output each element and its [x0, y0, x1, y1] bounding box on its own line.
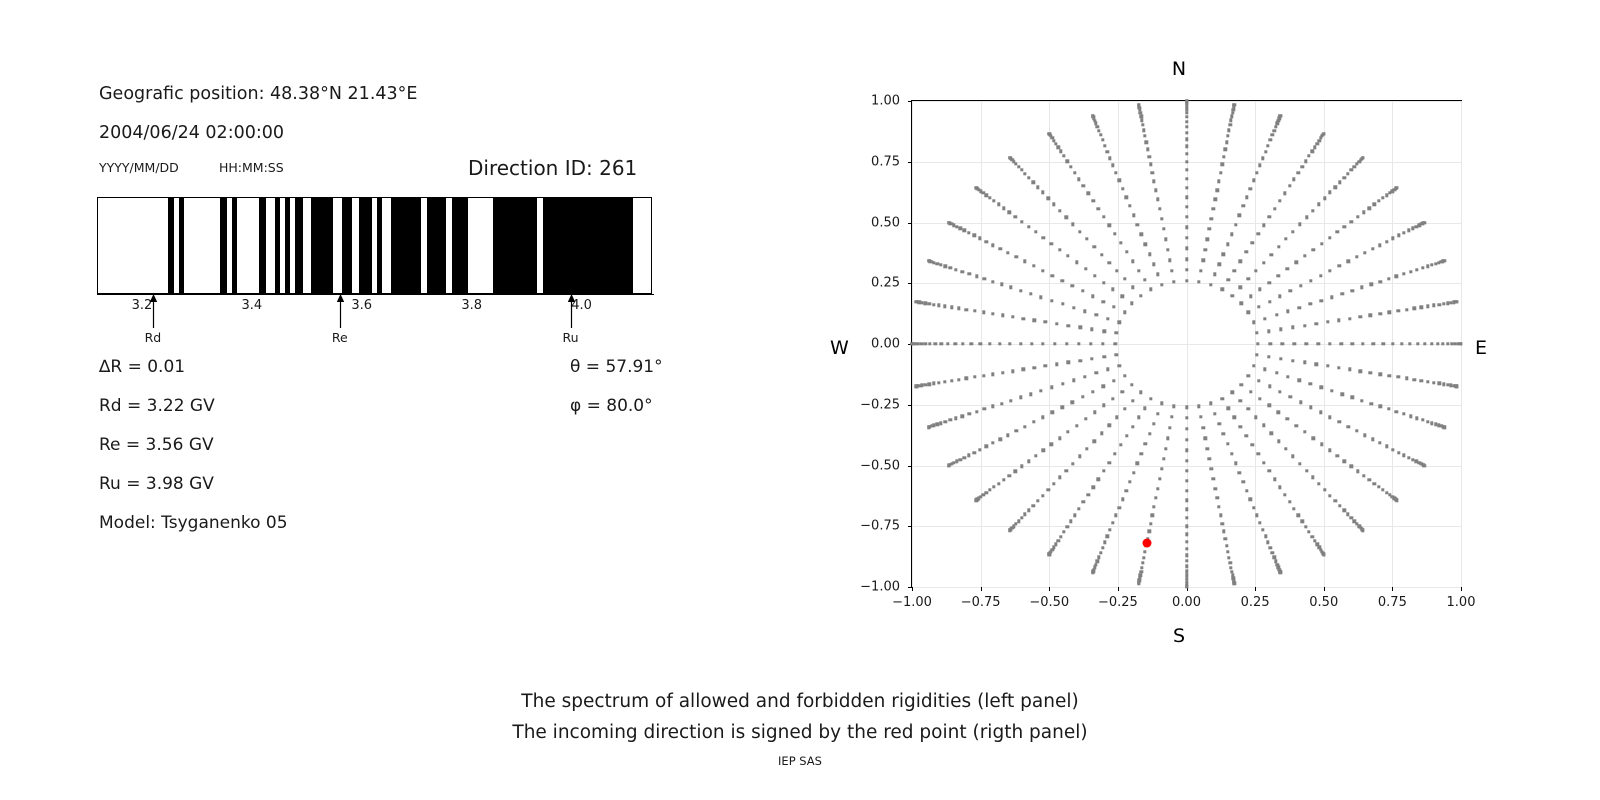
direction-dot	[1227, 129, 1230, 132]
direction-dot	[1148, 432, 1151, 435]
direction-dot	[1249, 295, 1252, 298]
y-axis-tick-label: 0.50	[871, 215, 900, 230]
direction-dot	[967, 453, 970, 456]
direction-dot	[1036, 499, 1039, 502]
direction-dot	[1142, 556, 1145, 559]
y-axis-tick	[908, 587, 912, 588]
direction-dot	[1201, 426, 1204, 429]
direction-dot	[1069, 165, 1072, 168]
direction-dot	[991, 312, 994, 315]
direction-dot	[1185, 569, 1188, 572]
direction-dot	[1001, 314, 1004, 317]
direction-dot	[1220, 288, 1223, 291]
direction-dot	[1032, 420, 1035, 423]
direction-dot	[1328, 342, 1331, 345]
direction-dot	[1185, 107, 1188, 110]
direction-dot	[1160, 467, 1163, 470]
direction-dot	[1108, 528, 1111, 531]
direction-dot	[982, 374, 985, 377]
direction-dot	[1232, 103, 1235, 106]
direction-dot	[970, 342, 973, 345]
direction-dot	[1356, 215, 1359, 218]
direction-dot	[1348, 368, 1351, 371]
direction-dot	[1402, 231, 1405, 234]
direction-dot	[1298, 462, 1301, 465]
direction-dot	[1378, 312, 1381, 315]
direction-dot	[1292, 507, 1295, 510]
direction-dot	[1156, 273, 1159, 276]
direction-dot	[1220, 397, 1223, 400]
direction-dot	[1241, 480, 1244, 483]
direction-dot	[1239, 399, 1242, 402]
direction-dot	[1238, 471, 1241, 474]
direction-dot	[1279, 357, 1282, 360]
direction-dot	[1185, 479, 1188, 482]
direction-dot	[1112, 305, 1115, 308]
direction-dot	[991, 373, 994, 376]
direction-dot	[1140, 233, 1143, 236]
direction-dot	[1185, 459, 1188, 462]
direction-dot	[1395, 275, 1398, 278]
direction-dot	[1295, 424, 1298, 427]
direction-dot	[1071, 462, 1074, 465]
direction-dot	[1304, 525, 1307, 528]
direction-dot	[967, 412, 970, 415]
direction-dot	[1062, 154, 1065, 157]
direction-dot	[927, 425, 930, 428]
x-axis-tick-label: −0.25	[1098, 595, 1138, 610]
direction-dot	[1218, 422, 1221, 425]
direction-dot	[1385, 240, 1388, 243]
direction-dot	[1071, 223, 1074, 226]
direction-dot	[991, 441, 994, 444]
direction-dot	[1238, 214, 1241, 217]
direction-dot	[1111, 397, 1114, 400]
direction-dot	[1297, 514, 1300, 517]
direction-dot	[1090, 328, 1093, 331]
direction-dot	[1446, 342, 1449, 345]
direction-dot	[1305, 342, 1308, 345]
direction-dot	[1373, 203, 1376, 206]
x-axis-tick-label: 0.25	[1241, 595, 1270, 610]
direction-dot	[1103, 541, 1106, 544]
direction-dot	[1266, 144, 1269, 147]
direction-dot	[967, 231, 970, 234]
direction-dot	[1009, 399, 1012, 402]
direction-dot	[1234, 462, 1237, 465]
direction-dot	[983, 407, 986, 410]
direction-dot	[975, 275, 978, 278]
direction-dot	[1397, 309, 1400, 312]
direction-dot	[1219, 171, 1222, 174]
direction-dot	[1029, 292, 1032, 295]
direction-dot	[1362, 211, 1365, 214]
y-axis-tick-label: −0.75	[860, 519, 900, 534]
direction-dot	[934, 342, 937, 345]
direction-dot	[1426, 305, 1429, 308]
direction-dot	[1341, 392, 1344, 395]
direction-dot	[1229, 119, 1232, 122]
direction-dot	[1014, 429, 1017, 432]
direction-dot	[1102, 469, 1105, 472]
direction-dot	[1078, 359, 1081, 362]
direction-dot	[1086, 493, 1089, 496]
direction-dot	[1218, 263, 1221, 266]
x-axis-tick	[912, 587, 913, 591]
direction-dot	[1114, 171, 1117, 174]
direction-dot	[1215, 188, 1218, 191]
direction-dot	[1225, 544, 1228, 547]
direction-dot	[1185, 145, 1188, 148]
direction-dot	[1108, 261, 1111, 264]
direction-map-panel: N S W E −1.00−0.75−0.50−0.250.000.250.50…	[830, 40, 1530, 660]
direction-dot	[1006, 434, 1009, 437]
direction-dot	[1130, 302, 1133, 305]
direction-dot	[1081, 395, 1084, 398]
direction-dot	[1154, 188, 1157, 191]
direction-dot	[1269, 138, 1272, 141]
direction-dot	[957, 307, 960, 310]
direction-dot	[1388, 311, 1391, 314]
direction-dot	[1231, 294, 1234, 297]
direction-dot	[1226, 550, 1229, 553]
forbidden-band	[452, 198, 468, 293]
direction-dot	[1083, 310, 1086, 313]
direction-dot	[1320, 242, 1323, 245]
direction-dot	[1277, 245, 1280, 248]
x-axis-tick	[1461, 587, 1462, 591]
direction-dot	[1402, 412, 1405, 415]
direction-dot	[1245, 250, 1248, 253]
gridline-horizontal	[912, 283, 1461, 284]
direction-dot	[1185, 177, 1188, 180]
direction-dot	[1162, 227, 1165, 230]
forbidden-band	[220, 198, 227, 293]
direction-dot	[1361, 342, 1364, 345]
direction-dot	[1185, 499, 1188, 502]
direction-dot	[1413, 378, 1416, 381]
direction-dot	[1160, 402, 1163, 405]
direction-dot	[1224, 148, 1227, 151]
direction-dot	[1283, 493, 1286, 496]
direction-dot	[1317, 482, 1320, 485]
direction-dot	[937, 381, 940, 384]
direction-dot	[1036, 185, 1039, 188]
direction-dot	[1328, 416, 1331, 419]
direction-dot	[1230, 114, 1233, 117]
direction-dot	[1147, 155, 1150, 158]
direction-dot	[1093, 411, 1096, 414]
direction-dot	[944, 420, 947, 423]
direction-dot	[1258, 521, 1261, 524]
direction-dot	[1256, 342, 1259, 345]
direction-dot	[914, 384, 917, 387]
direction-dot	[939, 421, 942, 424]
incoming-direction-point[interactable]	[1142, 539, 1151, 548]
direction-dot	[1140, 452, 1143, 455]
direction-dot	[1262, 224, 1265, 227]
rigidity-marker-label: Re	[332, 330, 348, 345]
spectrum-tick-label: 3.4	[242, 298, 263, 313]
direction-dot	[1443, 425, 1446, 428]
direction-dot	[1245, 196, 1248, 199]
direction-dot	[1278, 390, 1281, 393]
direction-dot	[1258, 288, 1261, 291]
direction-dot	[1102, 329, 1105, 332]
direction-dot	[947, 464, 950, 467]
direction-dot	[1185, 247, 1188, 250]
direction-dot	[1214, 487, 1217, 490]
direction-dot	[1042, 236, 1045, 239]
direction-dot	[1130, 383, 1133, 386]
direction-dot	[1303, 324, 1306, 327]
direction-dot	[1047, 488, 1050, 491]
direction-dot	[1048, 553, 1051, 556]
direction-dot	[1185, 115, 1188, 118]
direction-dot	[1310, 150, 1313, 153]
direction-dot	[1362, 474, 1365, 477]
direction-dot	[1415, 417, 1418, 420]
direction-dot	[1014, 215, 1017, 218]
direction-dot	[1315, 322, 1318, 325]
direction-dot	[1310, 535, 1313, 538]
direction-dot	[1407, 456, 1410, 459]
x-axis-tick-label: 0.00	[1172, 595, 1201, 610]
direction-dot	[1185, 553, 1188, 556]
direction-dot	[1228, 123, 1231, 126]
rigidity-spectrum-panel: Geografic position: 48.38°N 21.43°E 2004…	[0, 0, 760, 660]
direction-dot	[1333, 185, 1336, 188]
direction-dot	[1359, 369, 1362, 372]
direction-dot	[1270, 253, 1273, 256]
direction-dot	[1078, 455, 1081, 458]
direction-dot	[1227, 556, 1230, 559]
direction-dot	[1407, 229, 1410, 232]
direction-dot	[1268, 300, 1271, 303]
direction-dot	[1300, 165, 1303, 168]
direction-dot	[1278, 199, 1281, 202]
direction-dot	[1162, 457, 1165, 460]
forbidden-band	[295, 198, 303, 293]
direction-dot	[1360, 399, 1363, 402]
direction-dot	[1397, 451, 1400, 454]
direction-dot	[1338, 504, 1341, 507]
direction-dot	[1330, 295, 1333, 298]
direction-dot	[1107, 224, 1110, 227]
direction-dot	[975, 186, 978, 189]
direction-dot	[1144, 442, 1147, 445]
direction-dot	[1121, 187, 1124, 190]
direction-dot	[1041, 191, 1044, 194]
y-axis-tick-label: 1.00	[871, 94, 900, 109]
direction-dot	[1185, 215, 1188, 218]
direction-dot	[1293, 342, 1296, 345]
direction-dot	[973, 309, 976, 312]
caption-block: The spectrum of allowed and forbidden ri…	[0, 686, 1600, 748]
direction-dot	[1137, 103, 1140, 106]
direction-dot	[1249, 498, 1252, 501]
direction-dot	[954, 342, 957, 345]
direction-dot	[1041, 494, 1044, 497]
direction-dot	[1430, 342, 1433, 345]
up-arrow-icon	[566, 294, 577, 328]
datetime-label: 2004/06/24 02:00:00	[99, 123, 284, 143]
direction-dot	[1252, 506, 1255, 509]
direction-dot	[1151, 171, 1154, 174]
direction-dot	[1402, 453, 1405, 456]
direction-dot	[1071, 401, 1074, 404]
direction-dot	[1423, 221, 1426, 224]
direction-dot	[1136, 462, 1139, 465]
direction-dot	[1095, 313, 1098, 316]
direction-dot	[1008, 342, 1011, 345]
direction-dot	[1233, 269, 1236, 272]
x-axis-tick-label: −0.75	[961, 595, 1001, 610]
direction-dot	[1275, 313, 1278, 316]
direction-dot	[1081, 289, 1084, 292]
direction-dot	[1262, 261, 1265, 264]
direction-dot	[1009, 286, 1012, 289]
direction-dot	[1213, 273, 1216, 276]
direction-dot	[978, 448, 981, 451]
direction-dot	[1305, 216, 1308, 219]
direction-dot	[1185, 279, 1188, 282]
direction-dot	[1215, 496, 1218, 499]
direction-dot	[1014, 469, 1017, 472]
direction-dot	[1443, 259, 1446, 262]
forbidden-band	[285, 198, 290, 293]
direction-dot	[1455, 300, 1458, 303]
direction-dot	[1426, 380, 1429, 383]
direction-dot	[1346, 172, 1349, 175]
direction-dot	[1170, 415, 1173, 418]
direction-dot	[1143, 406, 1146, 409]
direction-dot	[1168, 426, 1171, 429]
direction-dot	[979, 342, 982, 345]
direction-dot	[1065, 342, 1068, 345]
direction-dot	[1059, 535, 1062, 538]
direction-dot	[1091, 114, 1094, 117]
direction-dot	[1277, 411, 1280, 414]
direction-dot	[1143, 278, 1146, 281]
direction-dot	[1426, 420, 1429, 423]
direction-dot	[1111, 521, 1114, 524]
direction-dot	[1002, 207, 1005, 210]
direction-dot	[1102, 404, 1105, 407]
direction-dot	[1019, 289, 1022, 292]
direction-dot	[1208, 227, 1211, 230]
direction-dot	[1303, 361, 1306, 364]
footer-credit: IEP SAS	[0, 754, 1600, 768]
rigidity-marker-label: Ru	[563, 330, 579, 345]
direction-dot	[1172, 280, 1175, 283]
direction-dot	[1268, 385, 1271, 388]
direction-dot	[1185, 533, 1188, 536]
direction-dot	[992, 199, 995, 202]
direction-dot	[1023, 172, 1026, 175]
direction-dot	[1246, 277, 1249, 280]
direction-dot	[1152, 422, 1155, 425]
direction-dot	[1305, 469, 1308, 472]
direction-dot	[1118, 321, 1121, 324]
direction-dot	[1251, 241, 1254, 244]
direction-dot	[1279, 328, 1282, 331]
direction-dot	[1054, 142, 1057, 145]
direction-dot	[1185, 525, 1188, 528]
direction-dot	[950, 306, 953, 309]
direction-dot	[1069, 520, 1072, 523]
direction-dot	[1102, 281, 1105, 284]
direction-dot	[1121, 390, 1124, 393]
direction-dot	[1278, 295, 1281, 298]
direction-dot	[1256, 232, 1259, 235]
direction-dot	[1421, 418, 1424, 421]
direction-dot	[1247, 374, 1250, 377]
direction-dot	[1115, 269, 1118, 272]
direction-dot	[923, 342, 926, 345]
direction-dot	[1261, 156, 1264, 159]
direction-dot	[1051, 411, 1054, 414]
direction-dot	[1185, 196, 1188, 199]
direction-dot	[1034, 454, 1037, 457]
y-axis-tick	[908, 526, 912, 527]
direction-dot	[1020, 168, 1023, 171]
direction-dot	[1337, 366, 1340, 369]
direction-dot	[1149, 288, 1152, 291]
direction-dot	[975, 410, 978, 413]
direction-dot	[1084, 267, 1087, 270]
direction-dot	[1056, 146, 1059, 149]
caption-line-1: The spectrum of allowed and forbidden ri…	[0, 686, 1600, 717]
direction-dot	[1086, 192, 1089, 195]
direction-dot	[1041, 342, 1044, 345]
direction-dot	[1254, 269, 1257, 272]
direction-dot	[1420, 379, 1423, 382]
direction-dot	[1348, 317, 1351, 320]
direction-dot	[927, 259, 930, 262]
direction-dot	[1111, 288, 1114, 291]
direction-dot	[943, 305, 946, 308]
direction-dot	[1277, 274, 1280, 277]
direction-dot	[1378, 405, 1381, 408]
direction-dot	[1387, 407, 1390, 410]
direction-dot	[1328, 191, 1331, 194]
direction-dot	[1073, 171, 1076, 174]
direction-dot	[1303, 254, 1306, 257]
direction-dot	[1219, 514, 1222, 517]
direction-id-label: Direction ID: 261	[468, 156, 637, 180]
direction-dot	[1047, 196, 1050, 199]
direction-dot	[1252, 321, 1255, 324]
direction-dot	[1289, 289, 1292, 292]
direction-dot	[1315, 142, 1318, 145]
direction-dot	[1292, 177, 1295, 180]
direction-dot	[1118, 179, 1121, 182]
direction-dot	[1185, 427, 1188, 430]
x-axis-tick	[1049, 587, 1050, 591]
direction-dot	[1281, 342, 1284, 345]
direction-dot	[1059, 150, 1062, 153]
direction-dot	[1347, 425, 1350, 428]
direction-dot	[1230, 233, 1233, 236]
direction-dot	[1072, 379, 1075, 382]
direction-dot	[1001, 371, 1004, 374]
direction-dot	[924, 383, 927, 386]
direction-dot	[1267, 355, 1270, 358]
direction-dot	[1232, 582, 1235, 585]
direction-dot	[932, 303, 935, 306]
direction-dot	[959, 227, 962, 230]
